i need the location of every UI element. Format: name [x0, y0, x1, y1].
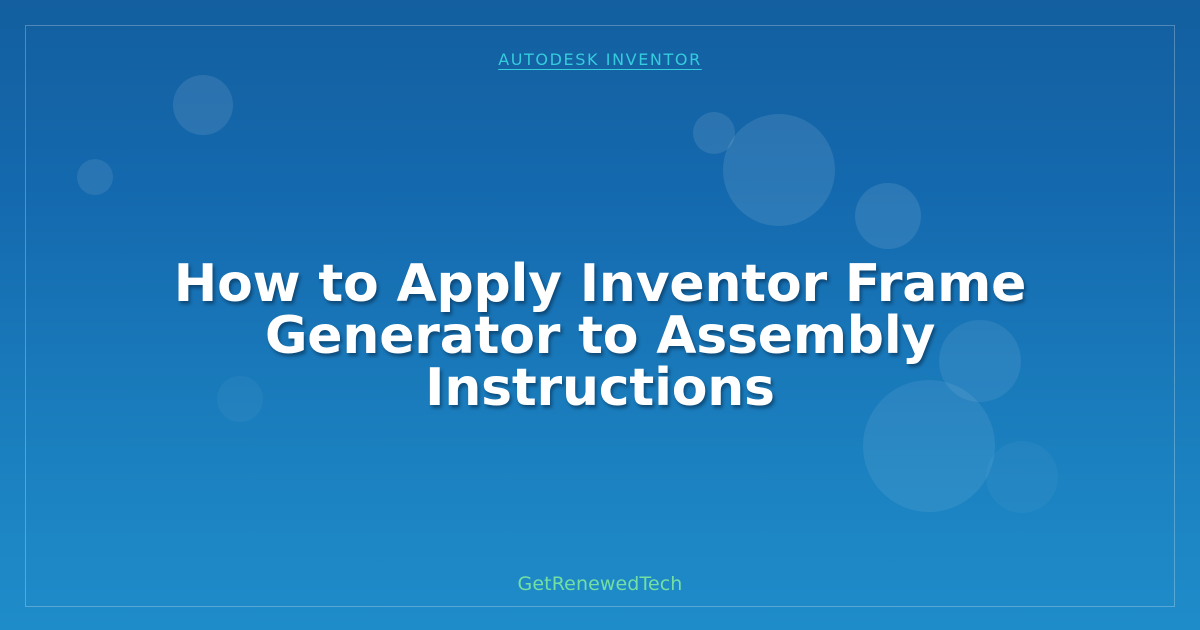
site-brand-footer: GetRenewedTech: [0, 575, 1200, 594]
title-container: How to Apply Inventor Frame Generator to…: [0, 258, 1200, 414]
social-share-card: AUTODESK INVENTOR How to Apply Inventor …: [0, 0, 1200, 630]
card-content: AUTODESK INVENTOR How to Apply Inventor …: [0, 0, 1200, 630]
category-eyebrow-link[interactable]: AUTODESK INVENTOR: [498, 52, 702, 68]
page-title: How to Apply Inventor Frame Generator to…: [130, 258, 1070, 414]
